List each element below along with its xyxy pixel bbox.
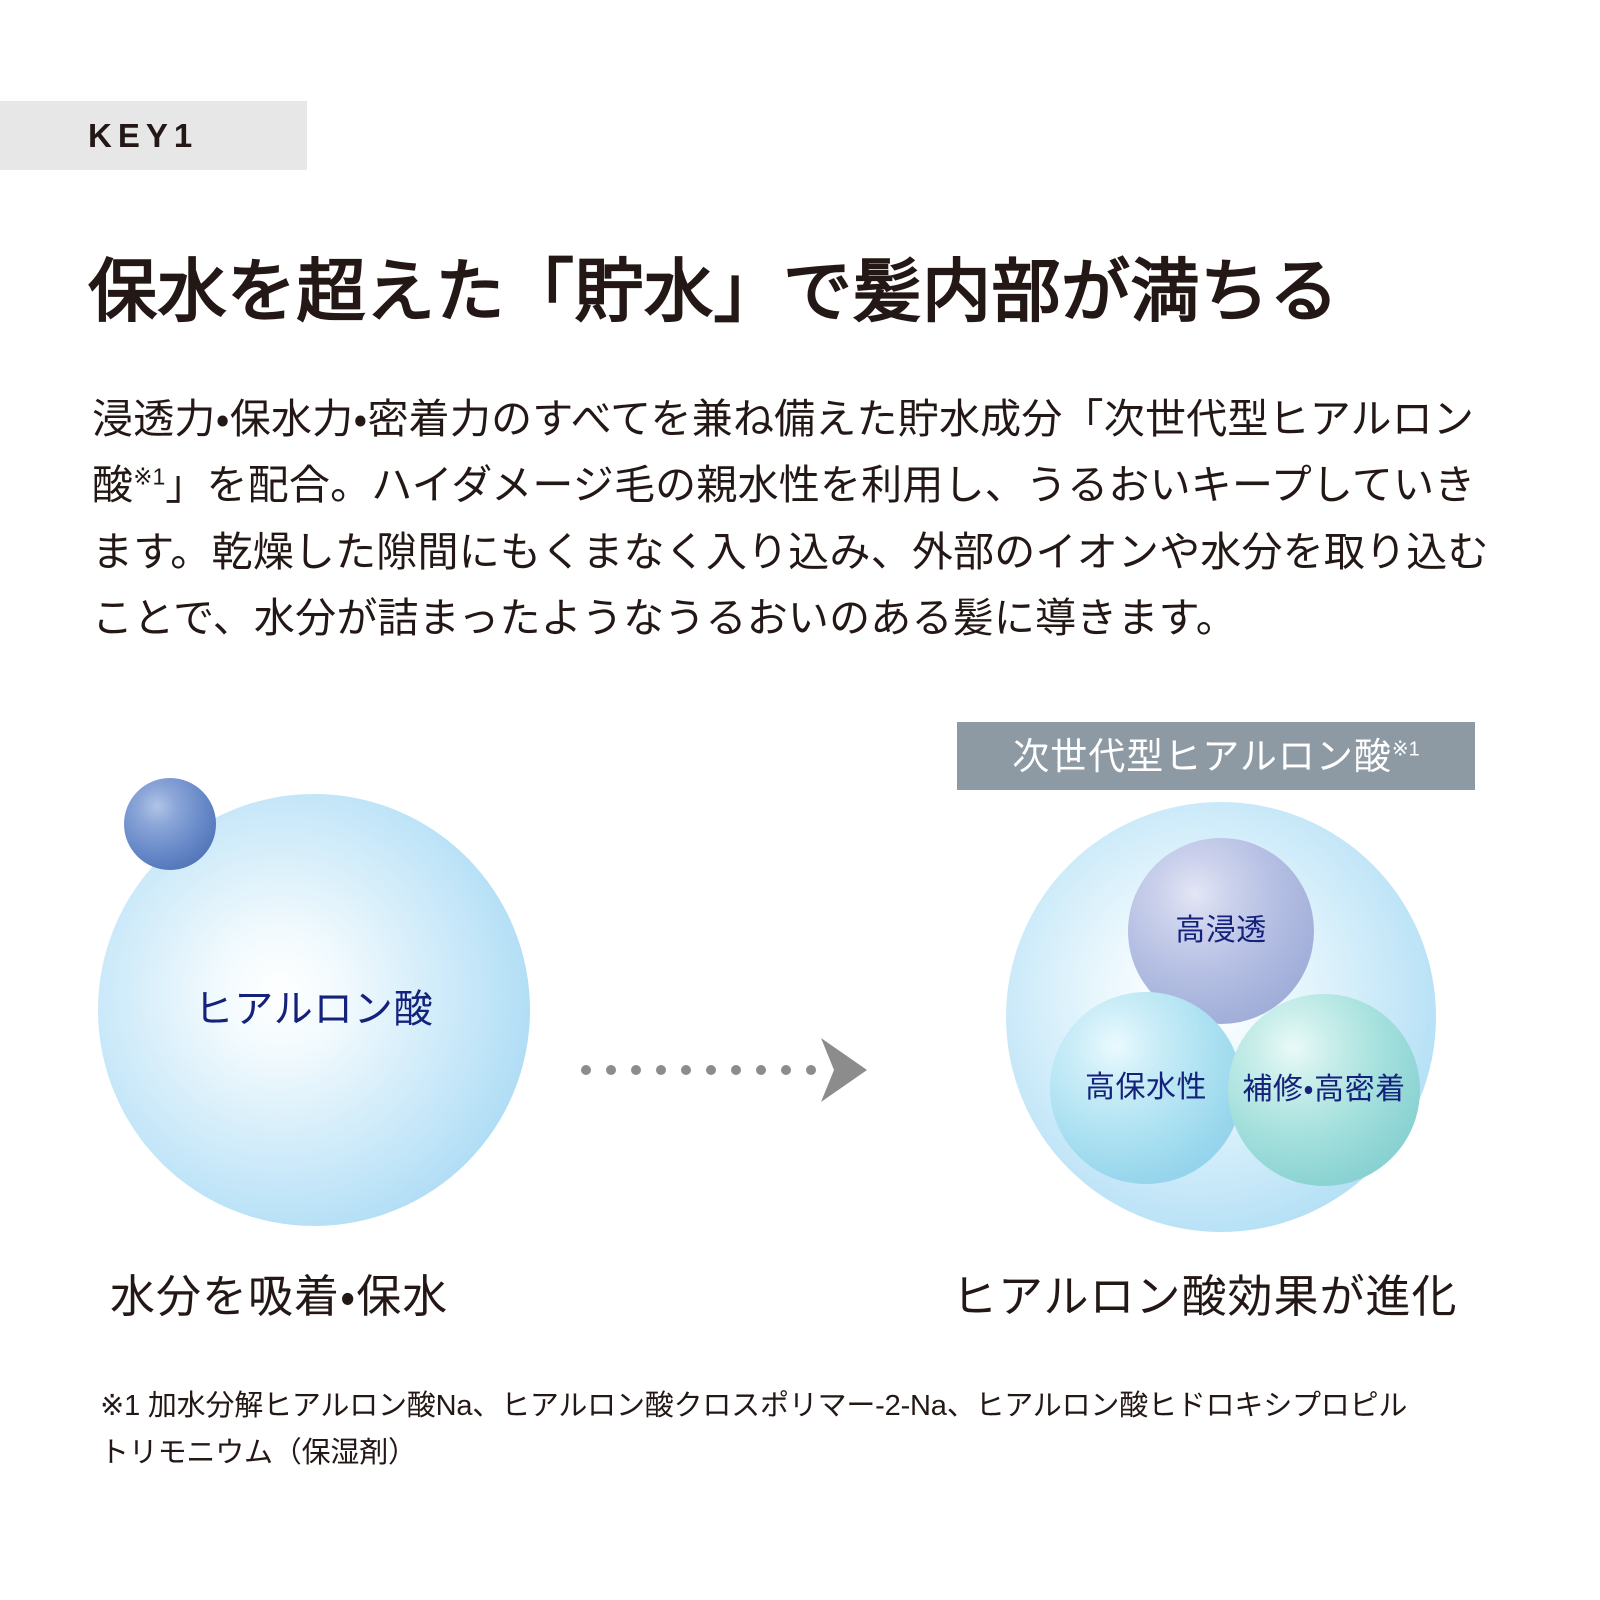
inner-bubble-high-moisture-retention-label: 高保水性 — [1085, 1073, 1207, 1103]
body-paragraph: 浸透力・保水力・密着力のすべてを兼ね備えた貯水成分「次世代型ヒアルロン酸※1」を… — [92, 386, 1504, 652]
water-molecule-sphere-icon — [124, 778, 216, 870]
footnote-marker: ※1 — [133, 464, 165, 490]
footnote-line-2: トリモニウム（保湿剤） — [100, 1437, 417, 1469]
inner-bubble-repair-high-adhesion: 補修・高密着 — [1228, 994, 1420, 1186]
key-badge-label: KEY1 — [88, 119, 198, 152]
page-title: 保水を超えた「貯水」で髪内部が満ちる — [88, 254, 1339, 330]
inner-bubble-high-penetration-label: 高浸透 — [1175, 916, 1267, 946]
key-badge: KEY1 — [0, 101, 307, 170]
body-text-part2: 」を配合。ハイダメージ毛の親水性を利用し、うるおいキープしていきます。乾燥した隙… — [92, 462, 1489, 641]
left-diagram-caption: 水分を吸着・保水 — [110, 1274, 448, 1319]
inner-bubble-high-moisture-retention: 高保水性 — [1050, 992, 1242, 1184]
transition-arrow-icon — [578, 1030, 868, 1110]
footnote: ※1 加水分解ヒアルロン酸Na、ヒアルロン酸クロスポリマー-2-Na、ヒアルロン… — [100, 1383, 1520, 1477]
footnote-line-1: ※1 加水分解ヒアルロン酸Na、ヒアルロン酸クロスポリマー-2-Na、ヒアルロン… — [100, 1390, 1407, 1422]
inner-bubble-repair-high-adhesion-label: 補修・高密着 — [1242, 1075, 1405, 1105]
next-gen-ha-bubble-group: 高浸透 高保水性 補修・高密着 — [1006, 802, 1436, 1232]
hyaluronic-acid-bubble-label: ヒアルロン酸 — [98, 991, 530, 1030]
right-diagram-caption: ヒアルロン酸効果が進化 — [952, 1274, 1458, 1319]
ingredient-diagram: ヒアルロン酸 高浸透 高保水性 — [0, 690, 1600, 1330]
